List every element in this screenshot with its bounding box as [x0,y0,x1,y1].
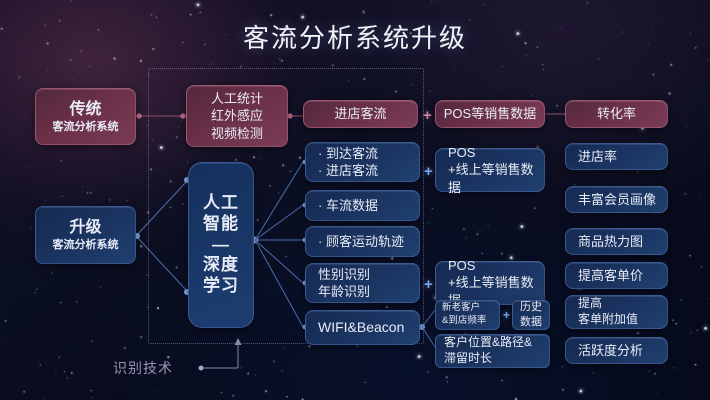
upgraded-system-title: 升级 [69,217,101,238]
capability-box-3[interactable]: 性别识别 年龄识别 [305,263,420,303]
capability-box-4[interactable]: WIFI&Beacon [305,310,420,345]
outcome-box-5[interactable]: 活跃度分析 [565,337,668,364]
capability-box-2[interactable]: · 顾客运动轨迹 [305,226,420,257]
ai-deep-learning-core-box[interactable]: 人工 智能 — 深度 学习 [188,162,254,328]
plus-icon-history: + [503,308,510,322]
legacy-methods-box[interactable]: 人工统计 红外感应 视频检测 [186,85,288,147]
data-source-box-4[interactable]: 客户位置&路径& 滞留时长 [435,334,550,368]
legacy-system-box[interactable]: 传统 客流分析系统 [35,88,136,145]
data-source-box-2[interactable]: 新老客户 &到店频率 [435,300,500,330]
data-source-box-1[interactable]: POS +线上等销售数据 [435,261,545,305]
outcome-box-2[interactable]: 商品热力图 [565,228,668,255]
plus-icon-legacy: + [423,107,432,124]
upgraded-system-box[interactable]: 升级 客流分析系统 [35,206,136,264]
legacy-output-box[interactable]: 进店客流 [303,100,418,128]
upgraded-system-subtitle: 客流分析系统 [53,238,119,253]
data-source-box-3[interactable]: 历史 数据 [512,300,550,330]
outcome-box-4[interactable]: 提高 客单附加值 [565,295,668,329]
legacy-system-subtitle: 客流分析系统 [53,120,119,135]
outcome-box-3[interactable]: 提高客单价 [565,262,668,289]
plus-icon-pos-1: + [424,163,433,180]
legacy-sales-box[interactable]: POS等销售数据 [435,100,545,128]
capability-box-1[interactable]: · 车流数据 [305,190,420,221]
legacy-result-box[interactable]: 转化率 [565,100,668,128]
outcome-box-0[interactable]: 进店率 [565,143,668,170]
slide-canvas: 客流分析系统升级 传统 客流分析系统 人工统计 红外感应 视频检测 进店客流 +… [0,0,710,400]
data-source-box-0[interactable]: POS +线上等销售数据 [435,148,545,192]
plus-icon-pos-2: + [424,276,433,293]
recognition-tech-label: 识别技术 [113,358,173,378]
outcome-box-1[interactable]: 丰富会员画像 [565,186,668,213]
legacy-system-title: 传统 [69,99,101,120]
page-title: 客流分析系统升级 [0,18,710,55]
capability-box-0[interactable]: · 到达客流 · 进店客流 [305,142,420,182]
